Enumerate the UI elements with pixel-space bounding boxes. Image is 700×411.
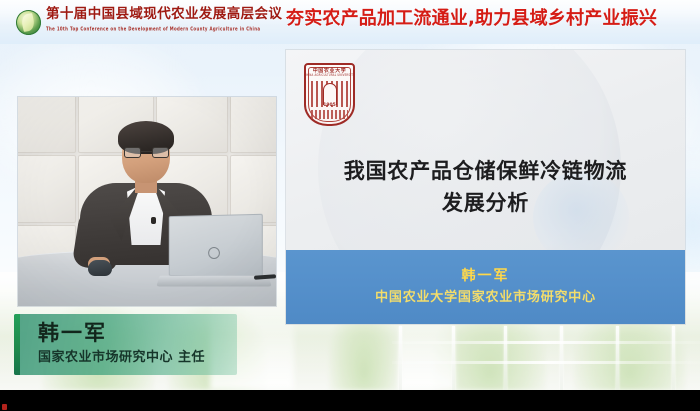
crest-base-motif bbox=[311, 110, 348, 119]
wall-panel bbox=[230, 155, 276, 223]
presentation-slide[interactable]: 中国农业大学 CHINA AGRICULTURAL UNIVERSITY 190… bbox=[286, 50, 685, 324]
glasses-lens bbox=[124, 147, 141, 158]
lower-third-accent-bar bbox=[14, 314, 20, 375]
crest-year: 1905 bbox=[304, 103, 355, 108]
event-slogan: 夯实农产品加工流通业,助力县域乡村产业振兴 bbox=[286, 6, 657, 32]
lower-third-name: 韩一军 bbox=[38, 319, 107, 347]
lower-third-role: 国家农业市场研究中心 主任 bbox=[38, 347, 205, 369]
speaker-video-feed[interactable] bbox=[18, 97, 276, 306]
glasses-lens bbox=[152, 147, 169, 158]
conference-title-en: The 10th Top Conference on the Developme… bbox=[46, 24, 286, 33]
recording-indicator-icon bbox=[2, 404, 7, 410]
conference-title-block: 第十届中国县域现代农业发展高层会议 The 10th Top Conferenc… bbox=[46, 7, 286, 31]
crest-name-en: CHINA AGRICULTURAL UNIVERSITY bbox=[304, 74, 355, 78]
event-header-bar: 第十届中国县域现代农业发展高层会议 The 10th Top Conferenc… bbox=[0, 0, 700, 44]
lapel-microphone-icon bbox=[151, 217, 156, 224]
speaker-glasses-icon bbox=[124, 147, 169, 158]
broadcast-stage: 第十届中国县域现代农业发展高层会议 The 10th Top Conferenc… bbox=[0, 0, 700, 411]
slide-title-line-2: 发展分析 bbox=[308, 187, 663, 219]
wall-panel bbox=[230, 97, 276, 153]
wall-panel bbox=[18, 155, 76, 223]
slide-title: 我国农产品仓储保鲜冷链物流 发展分析 bbox=[308, 155, 663, 219]
slide-footer-band: 韩一军 中国农业大学国家农业市场研究中心 bbox=[286, 250, 685, 324]
conference-leaf-logo-icon bbox=[16, 10, 41, 35]
slide-title-line-1: 我国农产品仓储保鲜冷链物流 bbox=[308, 155, 663, 187]
crest-arch-motif bbox=[323, 83, 337, 105]
lower-third-name-banner: 韩一军 国家农业市场研究中心 主任 bbox=[14, 314, 237, 375]
bottom-letterbox-bar bbox=[0, 390, 700, 411]
slide-speaker-name: 韩一军 bbox=[462, 265, 510, 287]
wall-panel bbox=[18, 97, 76, 153]
laptop-screen bbox=[169, 214, 263, 278]
conference-title-cn: 第十届中国县域现代农业发展高层会议 bbox=[46, 7, 286, 22]
computer-mouse-icon bbox=[88, 260, 112, 276]
china-agricultural-university-crest-icon: 中国农业大学 CHINA AGRICULTURAL UNIVERSITY 190… bbox=[304, 63, 355, 126]
laptop-brand-logo-icon bbox=[208, 247, 220, 259]
slide-speaker-org: 中国农业大学国家农业市场研究中心 bbox=[375, 287, 596, 309]
glasses-bridge bbox=[141, 151, 152, 152]
